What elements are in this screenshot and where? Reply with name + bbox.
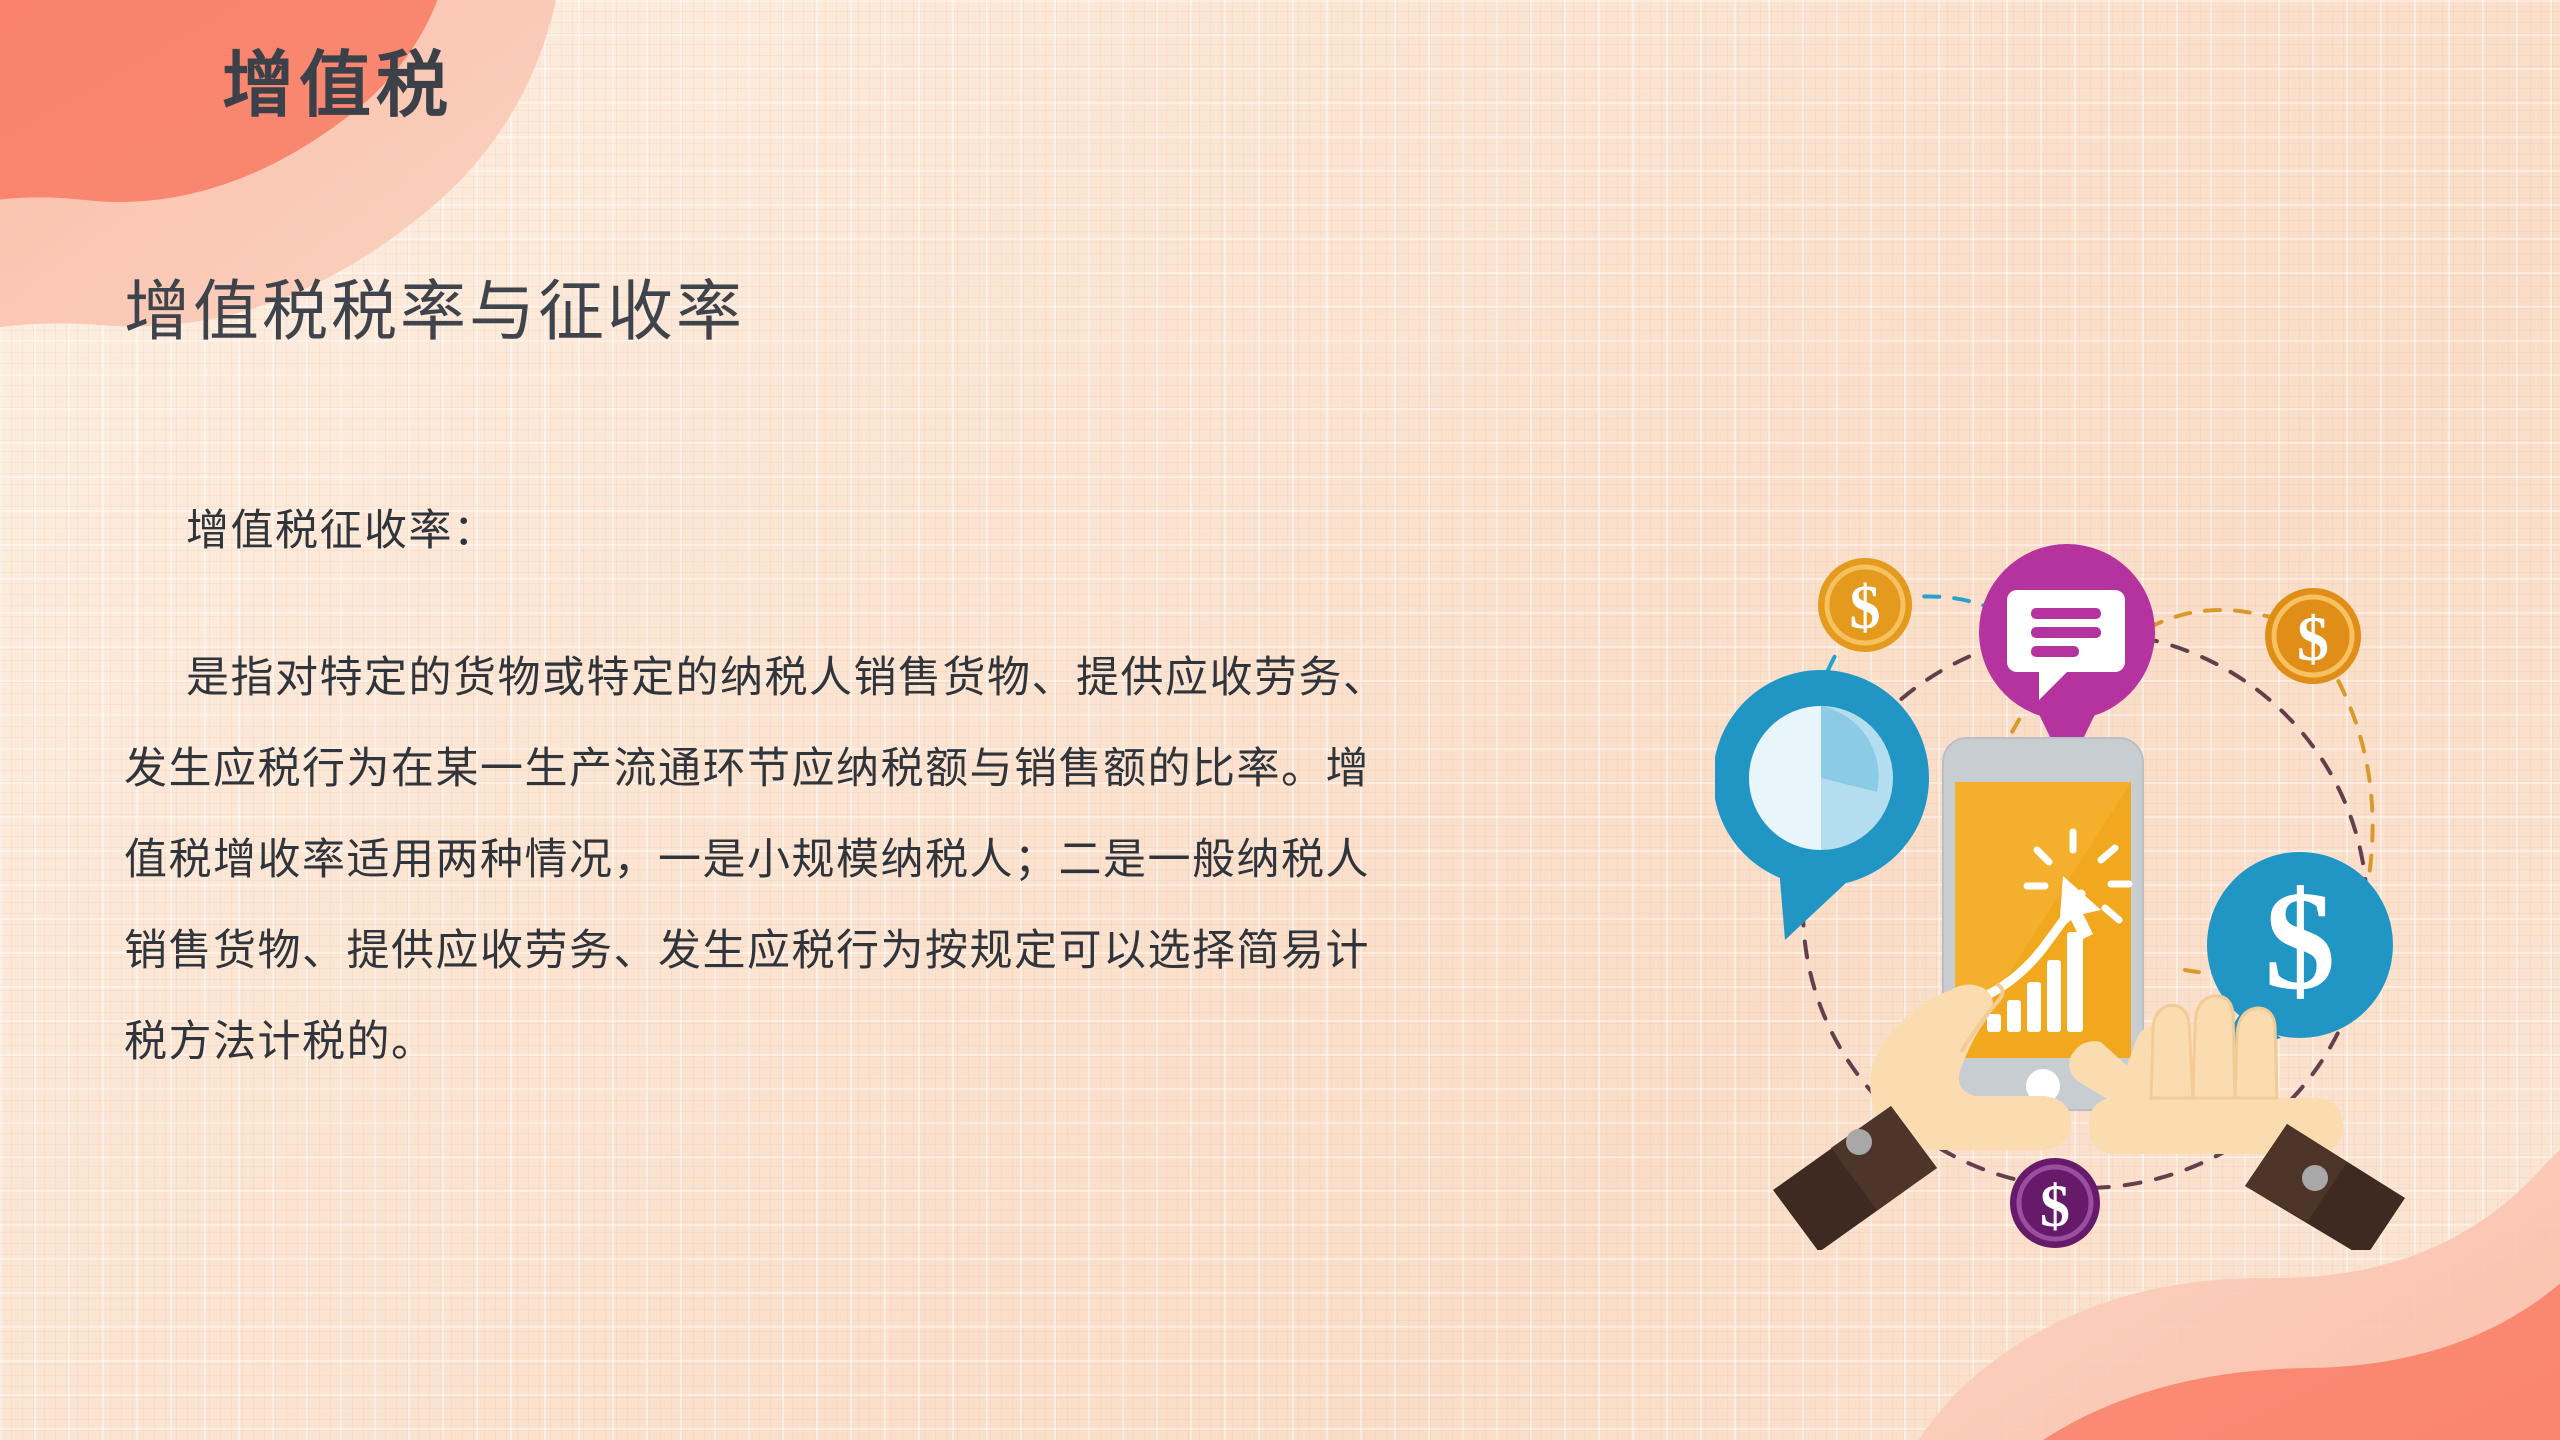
- svg-text:$: $: [1850, 574, 1881, 642]
- body-line: 发生应税行为在某一生产流通环节应纳税额与销售额的比率。增: [124, 748, 1544, 791]
- paragraph-spacer: [124, 553, 1544, 657]
- page-title: 增值税: [222, 45, 453, 128]
- body-line: 是指对特定的货物或特定的纳税人销售货物、提供应收劳务、: [124, 657, 1544, 700]
- line-spacer: [124, 791, 1544, 839]
- dollar-speech-bubble: $: [2207, 852, 2393, 1056]
- section-heading: 增值税税率与征收率: [124, 272, 745, 351]
- coin-purple-bottom: $: [2010, 1158, 2100, 1248]
- svg-text:$: $: [2040, 1173, 2070, 1239]
- coin-gold-top-right: $: [2265, 588, 2361, 684]
- line-spacer: [124, 973, 1544, 1021]
- pie-chart-speech-bubble: [1715, 670, 1929, 940]
- line-spacer: [124, 700, 1544, 748]
- body-line: 值税增收率适用两种情况，一是小规模纳税人；二是一般纳税人: [124, 839, 1544, 882]
- body-line: 销售货物、提供应收劳务、发生应税行为按规定可以选择简易计: [124, 930, 1544, 973]
- slide-canvas: 增值税 增值税税率与征收率 增值税征收率： 是指对特定的货物或特定的纳税人销售货…: [0, 0, 2560, 1440]
- svg-text:$: $: [2297, 603, 2329, 674]
- svg-text:$: $: [2265, 861, 2336, 1019]
- line-spacer: [124, 882, 1544, 930]
- coin-gold-top-left: $: [1818, 558, 1912, 652]
- mobile-finance-illustration: $ $ $: [1715, 510, 2455, 1250]
- body-text-block: 增值税征收率： 是指对特定的货物或特定的纳税人销售货物、提供应收劳务、 发生应税…: [124, 510, 1544, 1064]
- body-line: 税方法计税的。: [124, 1021, 1544, 1064]
- body-line: 增值税征收率：: [124, 510, 1544, 553]
